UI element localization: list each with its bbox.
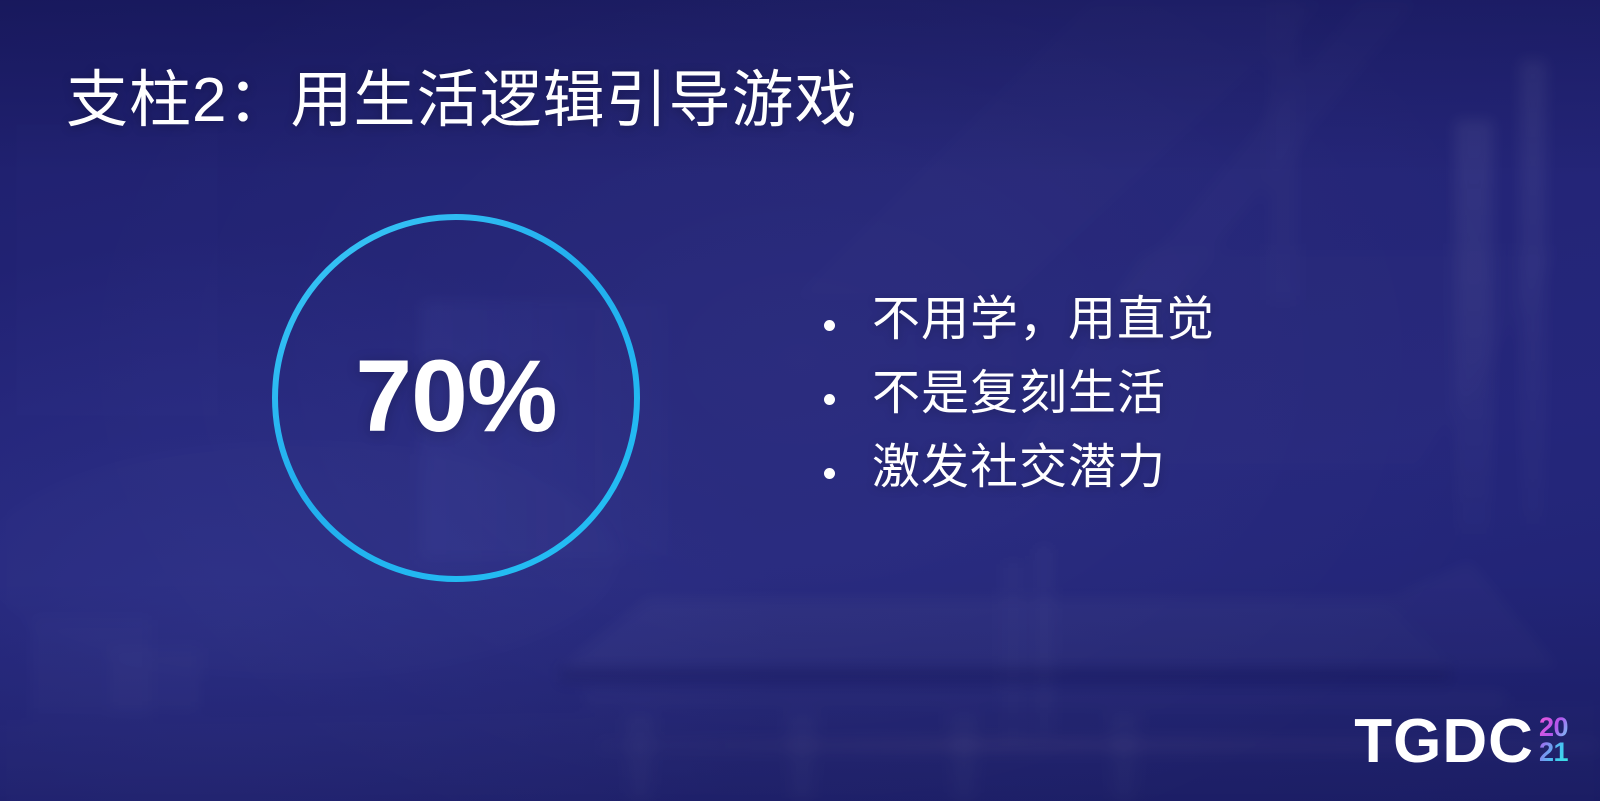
list-item: 不用学，用直觉 — [824, 296, 1464, 344]
bullet-text: 激发社交潜力 — [872, 444, 1166, 492]
tgdc-logo: TGDC 20 21 — [1354, 711, 1568, 773]
slide-root: 支柱2：用生活逻辑引导游戏 70% 不用学，用直觉 不是复刻生活 — [0, 0, 1600, 801]
bullet-list: 不用学，用直觉 不是复刻生活 激发社交潜力 — [824, 296, 1464, 492]
stat-percentage-value: 70% — [272, 214, 640, 582]
bullet-text: 不用学，用直觉 — [872, 296, 1215, 344]
logo-year-bottom: 21 — [1539, 740, 1568, 765]
bullet-dot-icon — [824, 468, 835, 479]
stat-ring: 70% — [272, 214, 640, 582]
list-item: 激发社交潜力 — [824, 444, 1464, 492]
logo-year-stack: 20 21 — [1539, 715, 1568, 765]
bullet-text: 不是复刻生活 — [872, 370, 1166, 418]
bullet-dot-icon — [824, 394, 835, 405]
page-title: 支柱2：用生活逻辑引导游戏 — [66, 62, 857, 140]
list-item: 不是复刻生活 — [824, 370, 1464, 418]
logo-wordmark: TGDC — [1354, 711, 1534, 773]
bullet-dot-icon — [824, 320, 835, 331]
